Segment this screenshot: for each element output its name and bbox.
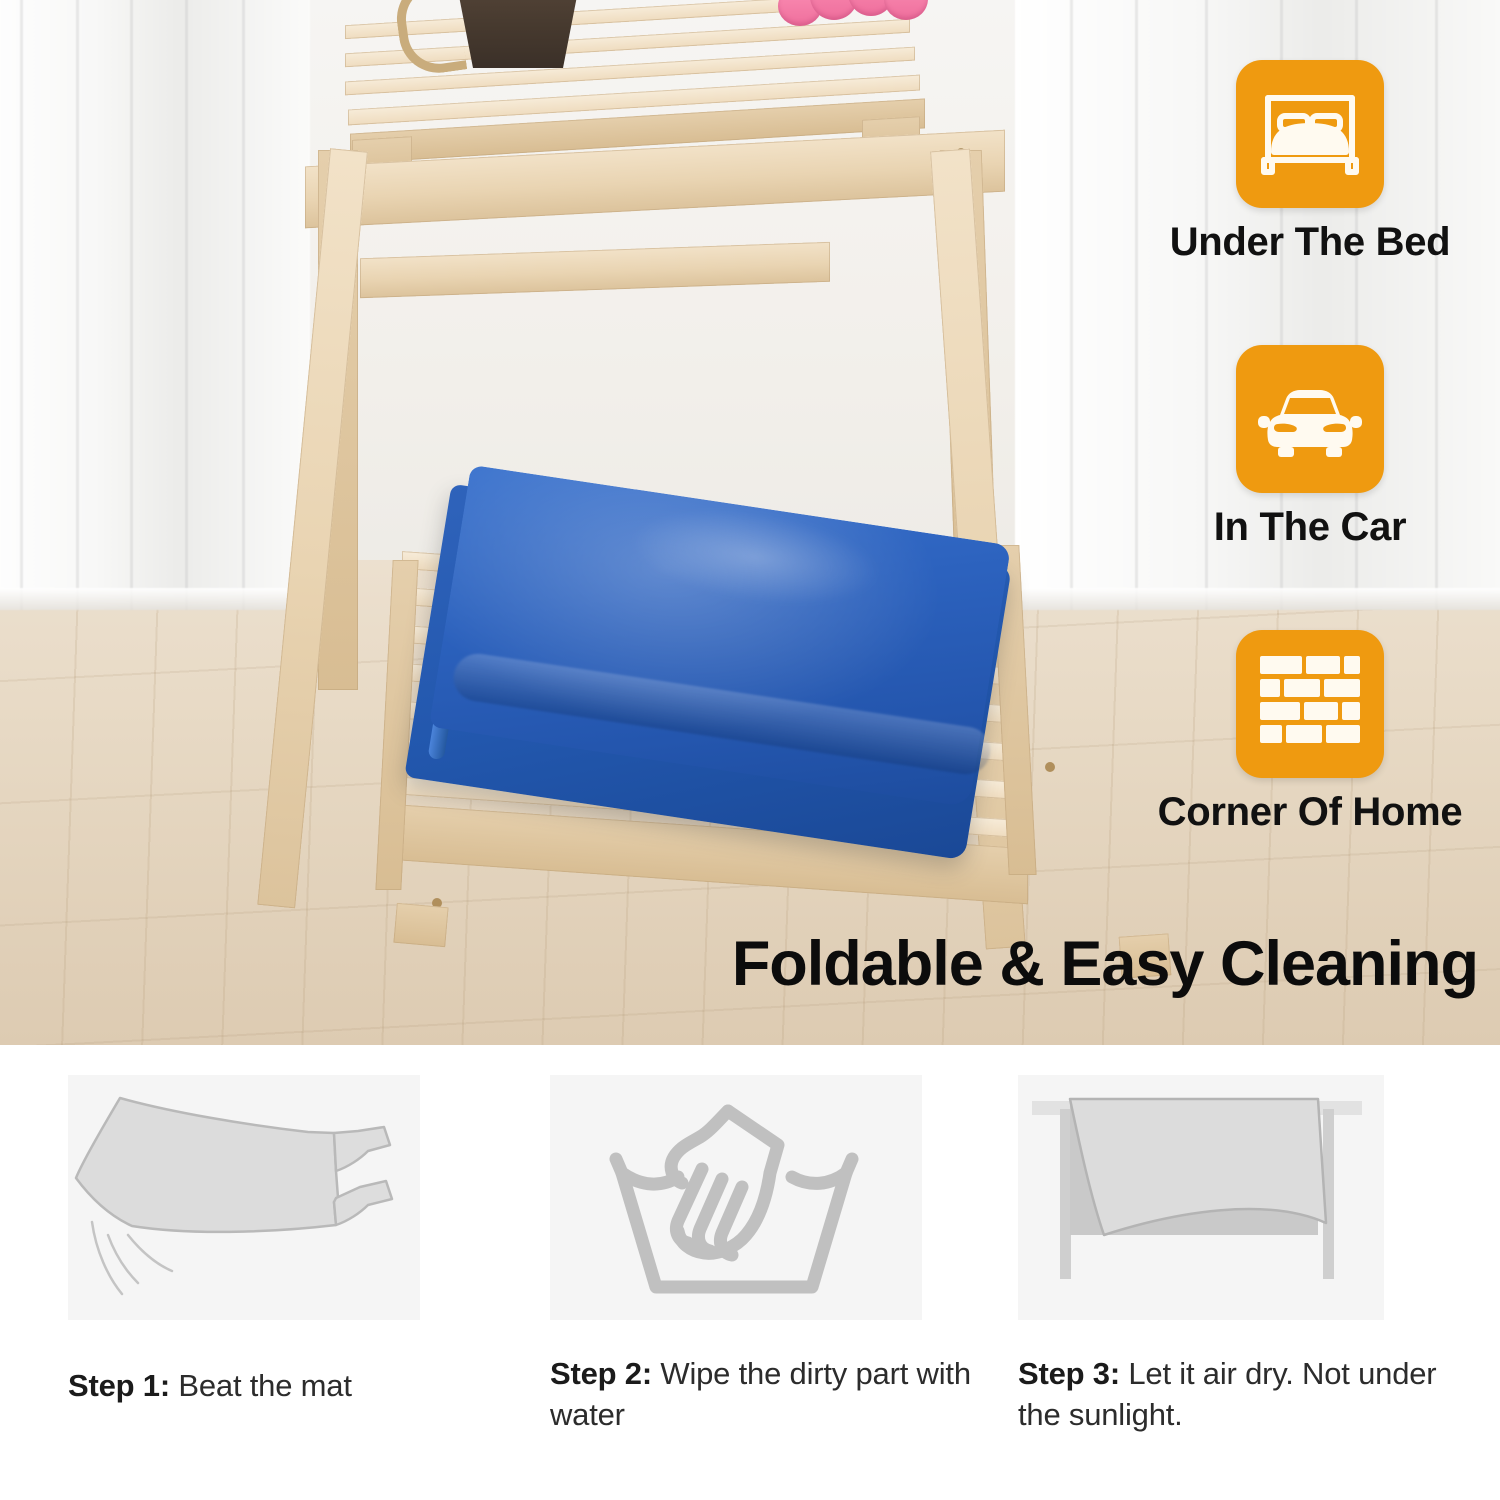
bed-icon <box>1258 86 1362 182</box>
feature-label: In The Car <box>1120 505 1500 549</box>
step-caption-1: Step 1: Beat the mat <box>68 1366 492 1407</box>
hand-wash-icon <box>550 1075 922 1320</box>
feature-label: Under The Bed <box>1120 220 1500 264</box>
hero-headline: Foldable & Easy Cleaning <box>732 928 1478 1000</box>
step-lead: Step 3: <box>1018 1356 1120 1391</box>
shaking-mat-icon <box>68 1075 420 1320</box>
step-figure-1 <box>68 1075 420 1320</box>
car-icon <box>1256 376 1364 462</box>
step-item-1: Step 1: Beat the mat <box>68 1045 492 1407</box>
step-figure-3 <box>1018 1075 1384 1320</box>
feature-badge-bed <box>1236 60 1384 208</box>
pink-rope-toy <box>778 0 928 32</box>
step-caption-3: Step 3: Let it air dry. Not under the su… <box>1018 1354 1442 1436</box>
feature-badge-car <box>1236 345 1384 493</box>
feature-list: Under The Bed In The Car <box>1120 50 1500 880</box>
screw-icon <box>1045 762 1055 772</box>
step-lead: Step 2: <box>550 1356 652 1391</box>
hero-photo: Under The Bed In The Car <box>0 0 1500 1045</box>
step-text: Beat the mat <box>170 1368 352 1403</box>
care-steps-section: Step 1: Beat the mat <box>0 1045 1500 1500</box>
feature-item-under-the-bed: Under The Bed <box>1120 60 1500 264</box>
curtain-left <box>0 0 310 610</box>
hanging-mat-drying-icon <box>1018 1075 1384 1320</box>
blue-folded-mat-product <box>420 498 1020 848</box>
feature-label: Corner Of Home <box>1120 790 1500 834</box>
product-infographic: Under The Bed In The Car <box>0 0 1500 1500</box>
step-figure-2 <box>550 1075 922 1320</box>
feature-item-corner-of-home: Corner Of Home <box>1120 630 1500 834</box>
feature-item-in-the-car: In The Car <box>1120 345 1500 549</box>
step-lead: Step 1: <box>68 1368 170 1403</box>
feature-badge-brick-wall <box>1236 630 1384 778</box>
step-caption-2: Step 2: Wipe the dirty part with water <box>550 1354 974 1436</box>
brick-wall-icon <box>1258 654 1362 754</box>
step-item-2: Step 2: Wipe the dirty part with water <box>550 1045 974 1436</box>
step-item-3: Step 3: Let it air dry. Not under the su… <box>1018 1045 1442 1436</box>
